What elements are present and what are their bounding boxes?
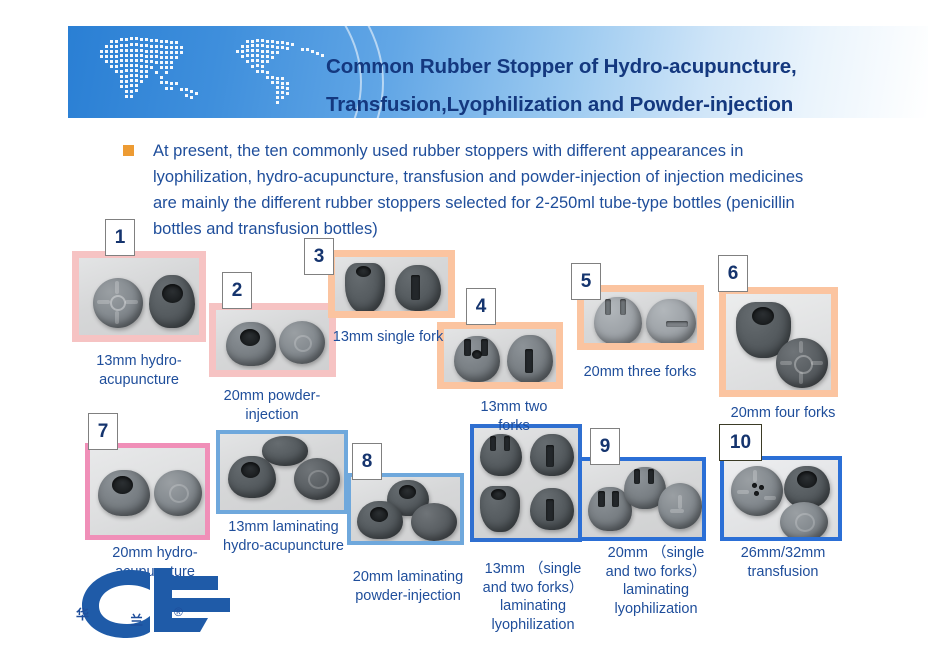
item-badge-10: 10: [719, 424, 762, 461]
logo-cn-char-left: 华: [76, 604, 89, 623]
stopper-photo-20mm-four-forks: [719, 287, 838, 397]
stopper-photo-20mm-hydro-acupuncture: [85, 443, 210, 540]
item-caption-1: 13mm hydro-acupuncture: [74, 352, 204, 389]
item-badge-1: 1: [105, 219, 135, 256]
item-caption-10: 26mm/32mm transfusion: [726, 544, 840, 581]
logo-cn-char-right: 兰: [130, 610, 143, 629]
item-number-9: 9: [600, 436, 611, 458]
title-line-2: Transfusion,Lyophilization and Powder-in…: [326, 86, 906, 118]
stopper-photo-13mm-two-forks: [437, 322, 563, 389]
item-badge-9: 9: [590, 428, 620, 465]
item-caption-8: 20mm laminating powder-injection: [338, 568, 478, 605]
item-number-5: 5: [581, 271, 592, 293]
caption-13mm-laminating-hydro-acupuncture: 13mm laminating hydro-acupuncture: [211, 518, 356, 555]
item-badge-2: 2: [222, 272, 252, 309]
item-badge-8: 8: [352, 443, 382, 480]
title-line-1: Common Rubber Stopper of Hydro-acupunctu…: [326, 48, 906, 86]
item-badge-3: 3: [304, 238, 334, 275]
caption-13mm-laminating-lyophilization: 13mm （single and two forks） laminating l…: [477, 560, 589, 634]
registered-trademark-icon: ®: [174, 605, 183, 619]
intro-paragraph: At present, the ten commonly used rubber…: [153, 138, 823, 242]
item-caption-4: 13mm two forks: [464, 398, 564, 435]
item-badge-4: 4: [466, 288, 496, 325]
slide-canvas: Common Rubber Stopper of Hydro-acupunctu…: [0, 0, 936, 662]
item-badge-6: 6: [718, 255, 748, 292]
item-number-8: 8: [362, 451, 373, 473]
stopper-photo-26mm-32mm-transfusion: [720, 456, 842, 541]
stopper-photo-20mm-powder-injection: [209, 303, 336, 377]
item-caption-3: 13mm single fork: [328, 328, 448, 347]
item-number-1: 1: [115, 227, 126, 249]
item-number-7: 7: [98, 421, 109, 443]
item-caption-9: 20mm （single and two forks） laminating l…: [600, 544, 712, 618]
item-number-10: 10: [730, 432, 751, 454]
stopper-photo-20mm-laminating-lyophilization: [578, 457, 706, 541]
stopper-photo-13mm-laminating-hydro-acupuncture: [216, 430, 348, 514]
item-number-3: 3: [314, 246, 325, 268]
item-number-6: 6: [728, 263, 739, 285]
item-number-4: 4: [476, 296, 487, 318]
cl-monogram-logo-icon: [68, 558, 248, 650]
item-caption-2: 20mm powder-injection: [204, 387, 340, 424]
stopper-photo-13mm-single-fork: [328, 250, 455, 318]
item-badge-5: 5: [571, 263, 601, 300]
stopper-photo-13mm-laminating-lyophilization: [470, 424, 582, 542]
item-number-2: 2: [232, 280, 243, 302]
item-badge-7: 7: [88, 413, 118, 450]
item-caption-6: 20mm four forks: [728, 404, 838, 423]
orange-square-bullet-icon: [123, 145, 134, 156]
header-banner: Common Rubber Stopper of Hydro-acupunctu…: [68, 26, 928, 118]
stopper-photo-13mm-hydro-acupuncture: [72, 251, 206, 342]
page-title: Common Rubber Stopper of Hydro-acupunctu…: [326, 48, 906, 118]
company-logo: 华 兰 ®: [68, 558, 248, 650]
intro-bullet-row: At present, the ten commonly used rubber…: [123, 138, 823, 242]
item-caption-5: 20mm three forks: [580, 363, 700, 382]
stopper-photo-20mm-laminating-powder-injection: [347, 473, 464, 545]
